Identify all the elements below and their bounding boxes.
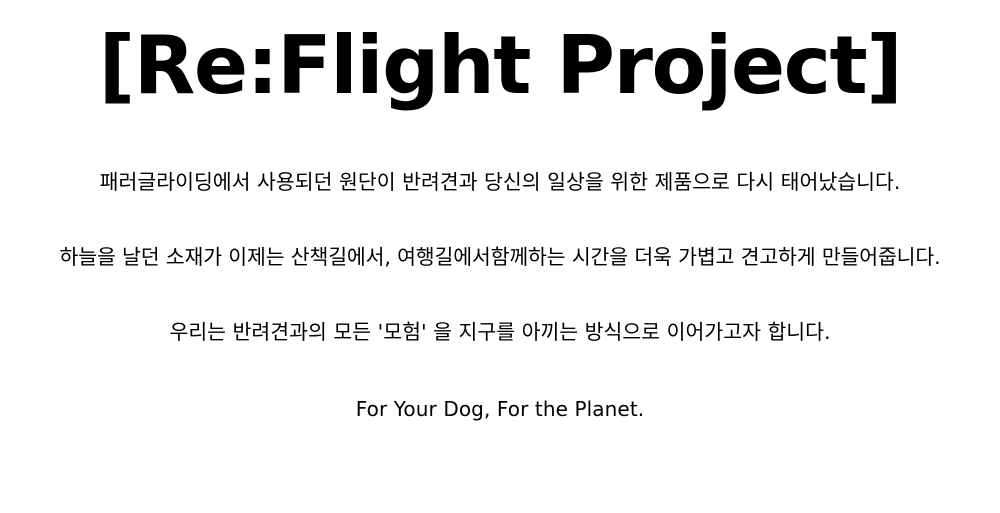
body-line-1: 패러글라이딩에서 사용되던 원단이 반려견과 당신의 일상을 위한 제품으로 다… <box>0 172 1000 193</box>
body-line-2: 하늘을 날던 소재가 이제는 산책길에서, 여행길에서함께하는 시간을 더욱 가… <box>0 247 1000 268</box>
body-copy-block: 패러글라이딩에서 사용되던 원단이 반려견과 당신의 일상을 위한 제품으로 다… <box>0 172 1000 419</box>
slide-canvas: [Re:Flight Project] 패러글라이딩에서 사용되던 원단이 반려… <box>0 0 1000 513</box>
body-line-3: 우리는 반려견과의 모든 '모험' 을 지구를 아끼는 방식으로 이어가고자 합… <box>0 322 1000 343</box>
body-tagline: For Your Dog, For the Planet. <box>0 399 1000 419</box>
title-block: [Re:Flight Project] <box>0 0 1000 120</box>
page-title: [Re:Flight Project] <box>99 26 902 120</box>
